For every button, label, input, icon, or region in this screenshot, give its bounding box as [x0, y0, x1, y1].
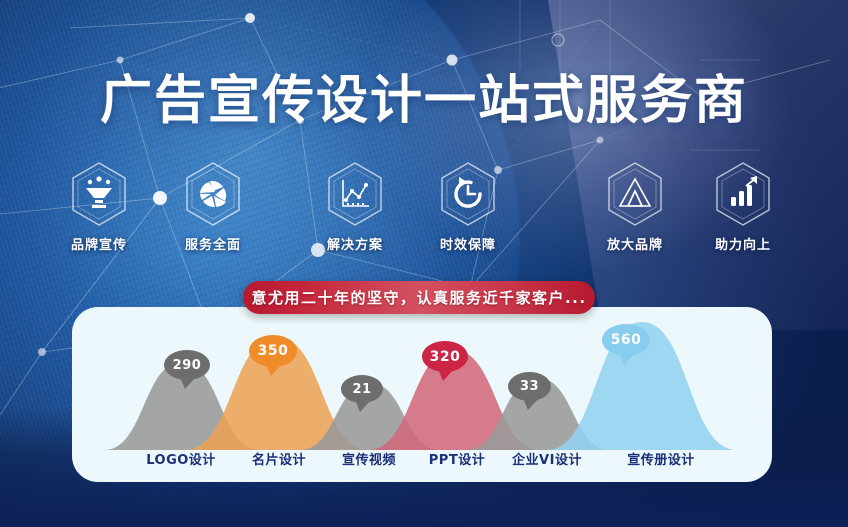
value-bubble-0: 290 — [164, 350, 210, 380]
feature-label: 品牌宣传 — [44, 234, 154, 253]
bubble-tail — [180, 377, 196, 389]
clock-history-icon — [437, 160, 499, 228]
tagline-text: 意尤用二十年的坚守，认真服务近千家客户... — [251, 287, 586, 308]
feature-label: 服务全面 — [158, 234, 268, 253]
bubble-tail — [619, 353, 635, 365]
feature-item-growth[interactable]: 助力向上 — [688, 160, 798, 253]
bubble-tail — [523, 398, 539, 410]
poster-canvas: 广告宣传设计一站式服务商 品牌宣传 — [0, 0, 848, 527]
feature-label: 助力向上 — [688, 234, 798, 253]
feature-item-solution[interactable]: 解决方案 — [300, 160, 410, 253]
feature-item-amplify[interactable]: 放大品牌 — [580, 160, 690, 253]
bar-growth-icon — [712, 160, 774, 228]
bubble-value: 21 — [352, 382, 371, 397]
bubble-value: 290 — [173, 358, 202, 373]
aperture-icon — [182, 160, 244, 228]
bubble-tail — [438, 369, 454, 381]
chart-category-labels: LOGO设计 名片设计 宣传视频 PPT设计 企业VI设计 宣传册设计 — [72, 449, 772, 475]
feature-label: 时效保障 — [413, 234, 523, 253]
value-bubble-3: 320 — [422, 341, 468, 372]
feature-item-service[interactable]: 服务全面 — [158, 160, 268, 253]
triangle-icon — [604, 160, 666, 228]
bubble-value: 560 — [611, 332, 642, 348]
feature-label: 解决方案 — [300, 234, 410, 253]
value-bubble-2: 21 — [341, 375, 383, 403]
bubble-value: 33 — [520, 379, 539, 394]
feature-item-brand[interactable]: 品牌宣传 — [44, 160, 154, 253]
feature-icon-row: 品牌宣传 服务全面 — [0, 160, 848, 250]
bubble-tail — [355, 400, 371, 412]
value-bubble-4: 33 — [508, 372, 551, 401]
category-label-5: 宣传册设计 — [596, 449, 726, 468]
bubble-value: 320 — [430, 349, 461, 365]
category-label-4: 企业VI设计 — [484, 449, 610, 468]
value-bubble-5: 560 — [602, 324, 650, 356]
feature-label: 放大品牌 — [580, 234, 690, 253]
page-title: 广告宣传设计一站式服务商 — [0, 58, 848, 133]
megaphone-icon — [68, 160, 130, 228]
bubble-value: 350 — [258, 343, 289, 359]
value-bubble-1: 350 — [249, 335, 297, 367]
line-chart-icon — [324, 160, 386, 228]
feature-item-timeliness[interactable]: 时效保障 — [413, 160, 523, 253]
bubble-tail — [266, 364, 282, 376]
tagline-ribbon: 意尤用二十年的坚守，认真服务近千家客户... — [243, 281, 595, 314]
